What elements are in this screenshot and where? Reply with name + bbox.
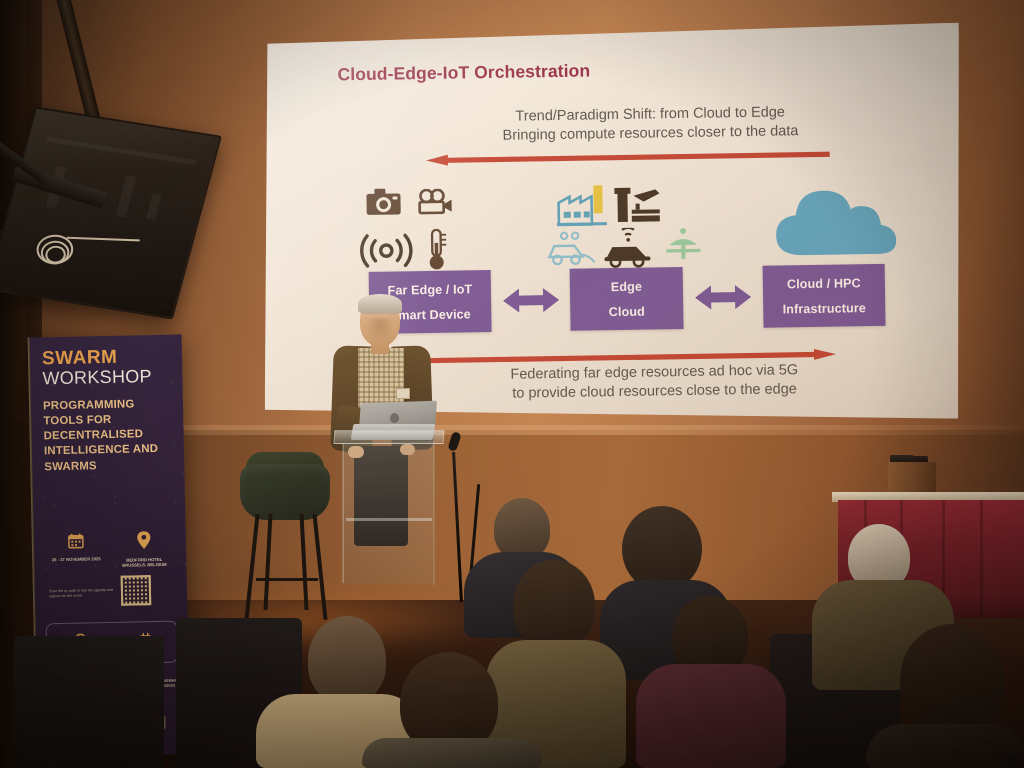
qr-code[interactable]	[121, 575, 152, 606]
audience-body-maroon	[636, 664, 786, 768]
stool-footrest	[256, 578, 318, 581]
speaker-name-badge	[396, 388, 410, 399]
microphone-head	[447, 431, 461, 452]
tv-rib	[116, 175, 137, 217]
connector-arrow-1	[503, 285, 560, 321]
box-cloud-hpc-line2: Infrastructure	[783, 301, 866, 316]
drape-fold	[980, 500, 983, 618]
lectern-shelf	[346, 518, 432, 521]
box-edge-cloud-line1: Edge	[611, 279, 642, 293]
lectern-body	[343, 441, 435, 585]
audience-head	[900, 624, 1004, 736]
audience-head	[494, 498, 550, 560]
connector-arrow-2	[695, 282, 752, 318]
banner-location-block: BEDFORD HOTEL BRUSSELS, BELGIUM	[114, 531, 175, 569]
banner-meta-row: 26 - 27 NOVEMBER 2025 BEDFORD HOTEL BRUS…	[42, 531, 179, 571]
wireless-signal-icon	[358, 233, 415, 273]
banner-location-text: BEDFORD HOTEL BRUSSELS, BELGIUM	[114, 557, 174, 569]
box-cloud-hpc-line1: Cloud / HPC	[787, 276, 861, 291]
audience-body	[362, 738, 542, 768]
wooden-box	[888, 462, 936, 496]
map-pin-icon	[114, 531, 174, 553]
audience-head	[513, 560, 595, 650]
box-edge-cloud: Edge Cloud	[570, 267, 684, 331]
audience-head	[308, 616, 386, 704]
presentation-room-photo: Cloud-Edge-IoT Orchestration Trend/Parad…	[0, 0, 1024, 768]
arrow-left-red	[426, 147, 830, 164]
factory-icon	[555, 184, 612, 232]
banner-date-text: 26 - 27 NOVEMBER 2025	[46, 556, 106, 563]
microphone-gooseneck	[452, 452, 463, 602]
trend-caption: Trend/Paradigm Shift: from Cloud to Edge…	[390, 101, 911, 146]
banner-date-block: 26 - 27 NOVEMBER 2025	[46, 532, 107, 570]
glass-lectern	[334, 430, 444, 590]
apple-logo-icon	[390, 413, 399, 423]
slide-title: Cloud-Edge-IoT Orchestration	[337, 60, 590, 85]
camera-icon	[365, 187, 402, 224]
box-edge-cloud-line2: Cloud	[609, 304, 645, 319]
chair	[14, 636, 164, 768]
box-far-edge-iot-line1: Far Edge / IoT	[387, 282, 472, 297]
tv-rib	[47, 137, 197, 165]
speaker-hair	[358, 294, 402, 314]
audience-body	[866, 724, 1024, 768]
airport-tower-icon	[613, 181, 664, 231]
cloud-icon	[769, 184, 896, 265]
video-camera-icon	[417, 189, 453, 221]
bottom-caption: Federating far edge resources ad hoc via…	[404, 360, 905, 406]
box-cloud-hpc: Cloud / HPC Infrastructure	[763, 264, 886, 328]
banner-scan-text: Scan the qr code to see the agenda and r…	[49, 588, 115, 599]
tv-rib	[146, 194, 162, 221]
banner-subtitle: PROGRAMMING TOOLS FOR DECENTRALISED INTE…	[43, 397, 175, 475]
cable-run	[66, 237, 140, 242]
bar-stool-seat	[240, 464, 330, 520]
speaker-face-shading	[366, 318, 394, 342]
banner-title-swarm: SWARM	[42, 347, 172, 369]
banner-title-workshop: WORKSHOP	[42, 367, 172, 388]
calendar-icon	[46, 532, 106, 552]
power-wire	[0, 236, 3, 252]
